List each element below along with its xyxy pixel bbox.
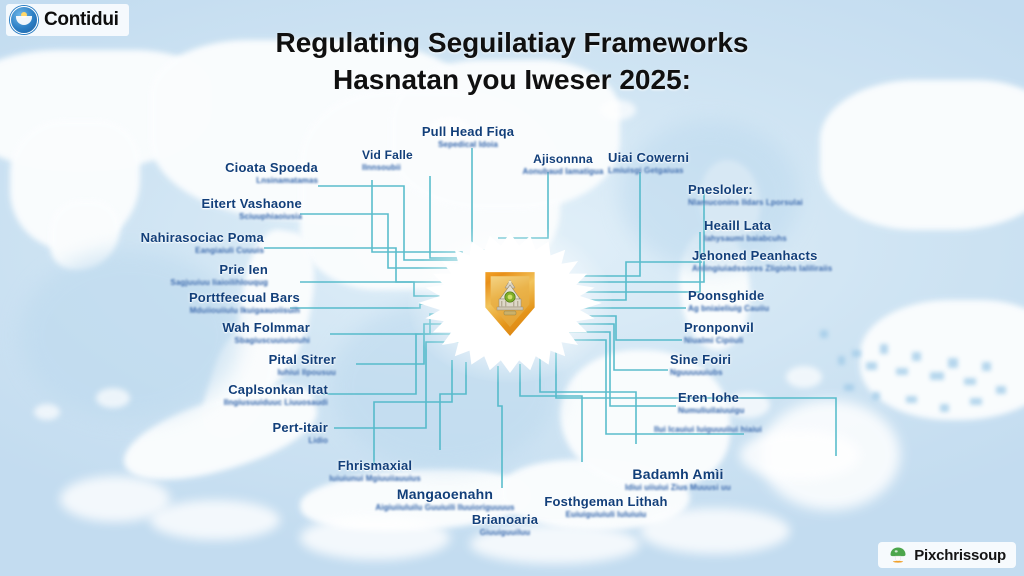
node-title: Pert-itair [208,420,328,435]
node-subtitle: Aigiuiiuluilu Guuiuili Iluuioriguuuus [350,503,540,512]
node-subtitle: Ilui Icauiui Iuiguuuiiui hiaiui [654,425,834,434]
node-fhrismaxial[interactable]: Fhrismaxial Iuiuiunui Mgiuuiiauuius [300,458,450,483]
node-title: Mangaoenahn [350,486,540,502]
node-title: Eitert Vashaone [150,196,302,211]
node-title: Sine Foiri [670,352,800,367]
node-subtitle: Lmiuisgi Getgaiuas [608,166,758,175]
brand-logo-top-left[interactable]: Contidui [6,4,129,36]
node-jehoned-peanhacts[interactable]: Jehoned Peanhacts Anlingiuiadssores Zlig… [692,248,882,273]
node-badamh-amii[interactable]: Badamh Amìi Idiui uiiuiui Zius Muuusi uu [588,466,768,492]
node-mangaoenahn[interactable]: Mangaoenahn Aigiuiiuluilu Guuiuili Iluui… [350,486,540,512]
node-subtitle: Niualmi Cipiiuli [684,336,824,345]
node-title: Pronponvil [684,320,824,335]
node-cioata-spoeda[interactable]: Cioata Spoeda Lnsinamatamas [148,160,318,185]
node-subtitle: Idiui uiiuiui Zius Muuusi uu [588,483,768,492]
node-subtitle: Sagjuuiuu Iiaioilihlouqug [150,278,268,287]
golden-shield-emblem[interactable] [482,268,538,336]
node-vid-falle[interactable]: Vid Falle Ilnnsoubii [362,148,482,172]
node-subtitle: Mduiiouiiulu Ikuigaauoiisuih [148,306,300,315]
watermark-bottom-right[interactable]: Pixchrissoup [878,542,1016,568]
title-line-1: Regulating Seguilatiay Frameworks [0,24,1024,61]
node-subtitle: Sciuuphiaoiusia [150,212,302,221]
node-subtitle: Numuliuilaiuuigu [678,406,818,415]
node-subtitle: Eangiaiuli Cuuuis [112,246,264,255]
node-caplsonkan-itat[interactable]: Caplsonkan Itat Ilngiusuuiduuc Liuuosaud… [178,382,328,407]
node-title: Jehoned Peanhacts [692,248,882,263]
node-subtitle: Iuiuiunui Mgiuuiiauuius [300,474,450,483]
node-title: Vid Falle [362,148,482,162]
node-subtitle: Ag bniaieliuig Cauiiu [688,304,838,313]
node-title: Pull Head Fiqa [398,124,538,139]
node-orphan-subtitle[interactable]: Ilui Icauiui Iuiguuuiiui hiaiui [654,424,834,434]
node-brianoaria[interactable]: Brianoaria Giuuiguuiluu [430,512,580,537]
node-title: Wah Folmmar [190,320,310,335]
node-title: Uiai Cowerni [608,150,758,165]
globe-logo-icon [10,6,38,34]
node-subtitle: Nguuuuuiubs [670,368,800,377]
node-title: Pnesloler: [688,182,868,197]
node-subtitle: Giuuiguuiluu [430,528,580,537]
node-title: Brianoaria [430,512,580,527]
watermark-name: Pixchrissoup [914,547,1006,564]
node-subtitle: Iuhiui Ilpousuu [212,368,336,377]
node-title: Fhrismaxial [300,458,450,473]
node-pital-sitrer[interactable]: Pital Sitrer Iuhiui Ilpousuu [212,352,336,377]
node-eitert-vashaone[interactable]: Eitert Vashaone Sciuuphiaoiusia [150,196,302,221]
node-subtitle: Lnsinamatamas [148,176,318,185]
node-subtitle: Iahysaumi baiabcuhs [704,234,854,243]
node-subtitle: Sbagiuscuuiuioiuhi [190,336,310,345]
node-heaill-lata[interactable]: Heaill Lata Iahysaumi baiabcuhs [704,218,854,243]
node-title: Poonsghide [688,288,838,303]
node-pnesloler[interactable]: Pnesloler: Nlamuconins Ildars Lporsulai [688,182,868,207]
node-pert-itair[interactable]: Pert-itair Lidio [208,420,328,445]
node-subtitle: Sepedical Idoia [398,140,538,149]
node-subtitle: Nlamuconins Ildars Lporsulai [688,198,868,207]
node-title: Eren Iohe [678,390,818,405]
page-title: Regulating Seguilatiay Frameworks Hasnat… [0,24,1024,98]
mushroom-logo-icon [888,545,908,565]
infographic-canvas: Regulating Seguilatiay Frameworks Hasnat… [0,0,1024,576]
title-line-2: Hasnatan you Iweser 2025: [0,61,1024,98]
node-subtitle: Ilnnsoubii [362,163,482,172]
node-prie-ien[interactable]: Prie Ien Sagjuuiuu Iiaioilihlouqug [150,262,268,287]
node-sine-foiri[interactable]: Sine Foiri Nguuuuuiubs [670,352,800,377]
brand-name: Contidui [44,9,119,31]
node-title: Badamh Amìi [588,466,768,482]
node-title: Caplsonkan Itat [178,382,328,397]
node-pull-head-fiqa[interactable]: Pull Head Fiqa Sepedical Idoia [398,124,538,149]
node-title: Nahirasociac Poma [112,230,264,245]
node-title: Fosthgeman Lithah [516,494,696,509]
crest-detail-icon [494,279,526,319]
node-poonsghide[interactable]: Poonsghide Ag bniaieliuig Cauiiu [688,288,838,313]
node-subtitle: Lidio [208,436,328,445]
node-title: Pital Sitrer [212,352,336,367]
node-uiai-cowerni[interactable]: Uiai Cowerni Lmiuisgi Getgaiuas [608,150,758,175]
node-subtitle: Anlingiuiadssores Zligiohs Ialiliraiis [692,264,882,273]
node-pronponvil[interactable]: Pronponvil Niualmi Cipiiuli [684,320,824,345]
node-title: Cioata Spoeda [148,160,318,175]
node-title: Heaill Lata [704,218,854,233]
node-porttfeecual-bars[interactable]: Porttfeecual Bars Mduiiouiiulu Ikuigaauo… [148,290,300,315]
node-eren-iohe[interactable]: Eren Iohe Numuliuilaiuuigu [678,390,818,415]
node-wah-folmmar[interactable]: Wah Folmmar Sbagiuscuuiuioiuhi [190,320,310,345]
node-title: Porttfeecual Bars [148,290,300,305]
node-subtitle: Ilngiusuuiduuc Liuuosaudi [178,398,328,407]
node-title: Prie Ien [150,262,268,277]
node-nahirasociac-poma[interactable]: Nahirasociac Poma Eangiaiuli Cuuuis [112,230,264,255]
